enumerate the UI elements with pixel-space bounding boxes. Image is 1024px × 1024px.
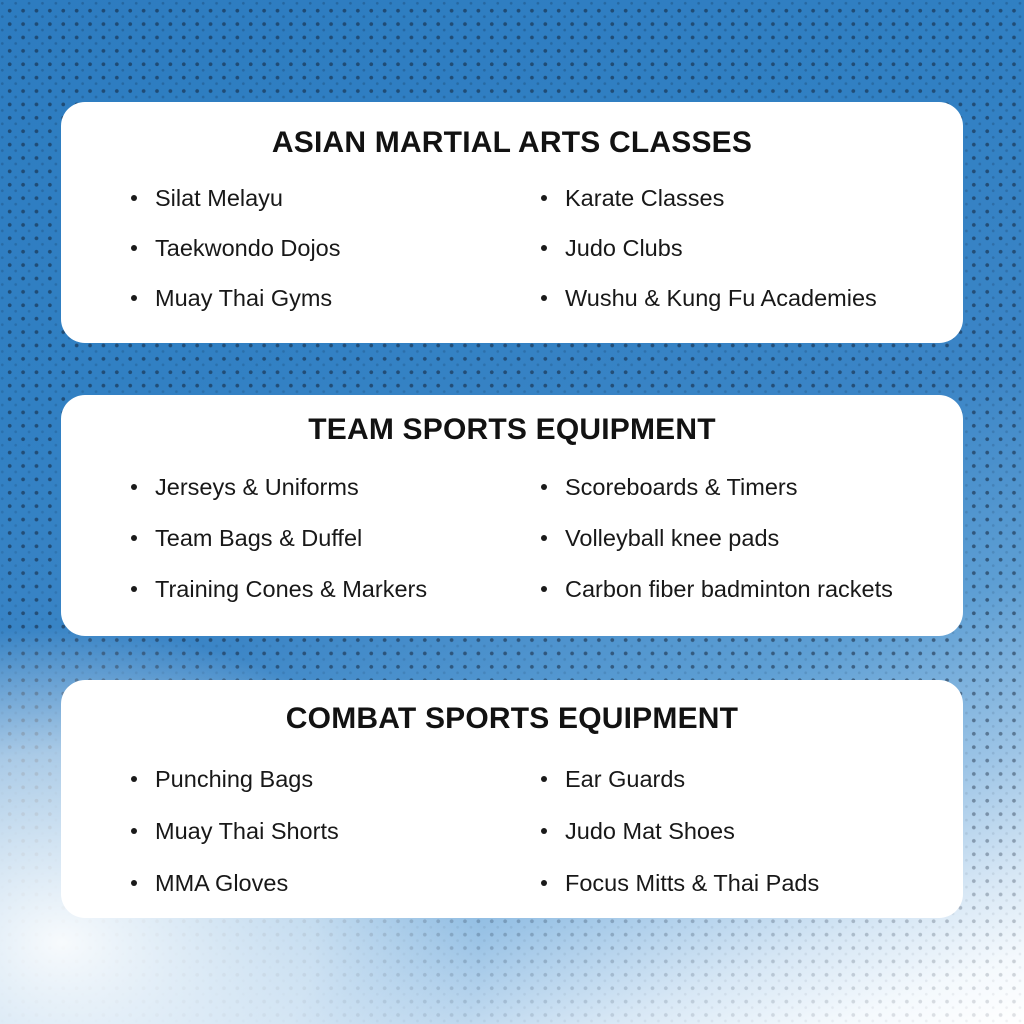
bullet-list-left: Punching Bags Muay Thai Shorts MMA Glove… [103, 765, 512, 922]
list-item: Punching Bags [128, 765, 512, 793]
bullet-dot-icon [541, 535, 547, 541]
list-item-label: Karate Classes [565, 185, 724, 211]
bullet-dot-icon [131, 484, 137, 490]
bullet-dot-icon [131, 535, 137, 541]
bullet-dot-icon [541, 484, 547, 490]
card-asian-martial-arts-classes: ASIAN MARTIAL ARTS CLASSES Silat Melayu … [61, 102, 963, 343]
list-item: Training Cones & Markers [128, 575, 512, 603]
list-item: MMA Gloves [128, 869, 512, 897]
list-item: Judo Clubs [538, 234, 921, 262]
bullet-dot-icon [131, 295, 137, 301]
card-title: COMBAT SPORTS EQUIPMENT [89, 680, 935, 734]
card-columns: Silat Melayu Taekwondo Dojos Muay Thai G… [89, 184, 935, 313]
bullet-dot-icon [131, 245, 137, 251]
bullet-list-right: Ear Guards Judo Mat Shoes Focus Mitts & … [512, 765, 921, 922]
bullet-dot-icon [131, 776, 137, 782]
list-item: Karate Classes [538, 184, 921, 212]
list-item-label: Jerseys & Uniforms [155, 474, 359, 500]
list-item: Focus Mitts & Thai Pads [538, 869, 921, 897]
list-item-label: Team Bags & Duffel [155, 525, 362, 551]
list-item-label: Carbon fiber badminton rackets [565, 576, 893, 602]
card-team-sports-equipment: TEAM SPORTS EQUIPMENT Jerseys & Uniforms… [61, 395, 963, 636]
card-columns: Punching Bags Muay Thai Shorts MMA Glove… [89, 765, 935, 922]
list-item: Team Bags & Duffel [128, 524, 512, 552]
bullet-dot-icon [541, 586, 547, 592]
list-item: Scoreboards & Timers [538, 473, 921, 501]
bullet-dot-icon [541, 828, 547, 834]
list-item: Silat Melayu [128, 184, 512, 212]
list-item: Taekwondo Dojos [128, 234, 512, 262]
bullet-dot-icon [541, 295, 547, 301]
list-item: Volleyball knee pads [538, 524, 921, 552]
bullet-list-right: Scoreboards & Timers Volleyball knee pad… [512, 473, 921, 627]
bullet-dot-icon [541, 776, 547, 782]
list-item-label: Muay Thai Shorts [155, 818, 339, 844]
bullet-dot-icon [541, 245, 547, 251]
card-combat-sports-equipment: COMBAT SPORTS EQUIPMENT Punching Bags Mu… [61, 680, 963, 918]
list-item: Wushu & Kung Fu Academies [538, 284, 921, 312]
bullet-list-right: Karate Classes Judo Clubs Wushu & Kung F… [512, 184, 921, 313]
list-item: Ear Guards [538, 765, 921, 793]
list-item: Judo Mat Shoes [538, 817, 921, 845]
bullet-dot-icon [541, 880, 547, 886]
bullet-dot-icon [131, 195, 137, 201]
bullet-list-left: Silat Melayu Taekwondo Dojos Muay Thai G… [103, 184, 512, 313]
bullet-list-left: Jerseys & Uniforms Team Bags & Duffel Tr… [103, 473, 512, 627]
card-title: ASIAN MARTIAL ARTS CLASSES [89, 102, 935, 158]
list-item: Muay Thai Shorts [128, 817, 512, 845]
list-item-label: Focus Mitts & Thai Pads [565, 870, 819, 896]
bullet-dot-icon [131, 586, 137, 592]
list-item-label: Judo Clubs [565, 235, 683, 261]
list-item: Carbon fiber badminton rackets [538, 575, 921, 603]
list-item-label: Wushu & Kung Fu Academies [565, 285, 877, 311]
list-item-label: Judo Mat Shoes [565, 818, 735, 844]
poster-canvas: ASIAN MARTIAL ARTS CLASSES Silat Melayu … [0, 0, 1024, 1024]
list-item-label: Scoreboards & Timers [565, 474, 797, 500]
list-item: Muay Thai Gyms [128, 284, 512, 312]
list-item-label: MMA Gloves [155, 870, 288, 896]
list-item-label: Punching Bags [155, 766, 313, 792]
card-title: TEAM SPORTS EQUIPMENT [89, 395, 935, 445]
list-item-label: Volleyball knee pads [565, 525, 779, 551]
list-item-label: Muay Thai Gyms [155, 285, 332, 311]
list-item-label: Silat Melayu [155, 185, 283, 211]
bullet-dot-icon [131, 828, 137, 834]
list-item: Jerseys & Uniforms [128, 473, 512, 501]
card-columns: Jerseys & Uniforms Team Bags & Duffel Tr… [89, 473, 935, 627]
bullet-dot-icon [541, 195, 547, 201]
list-item-label: Training Cones & Markers [155, 576, 427, 602]
bullet-dot-icon [131, 880, 137, 886]
list-item-label: Taekwondo Dojos [155, 235, 341, 261]
list-item-label: Ear Guards [565, 766, 685, 792]
